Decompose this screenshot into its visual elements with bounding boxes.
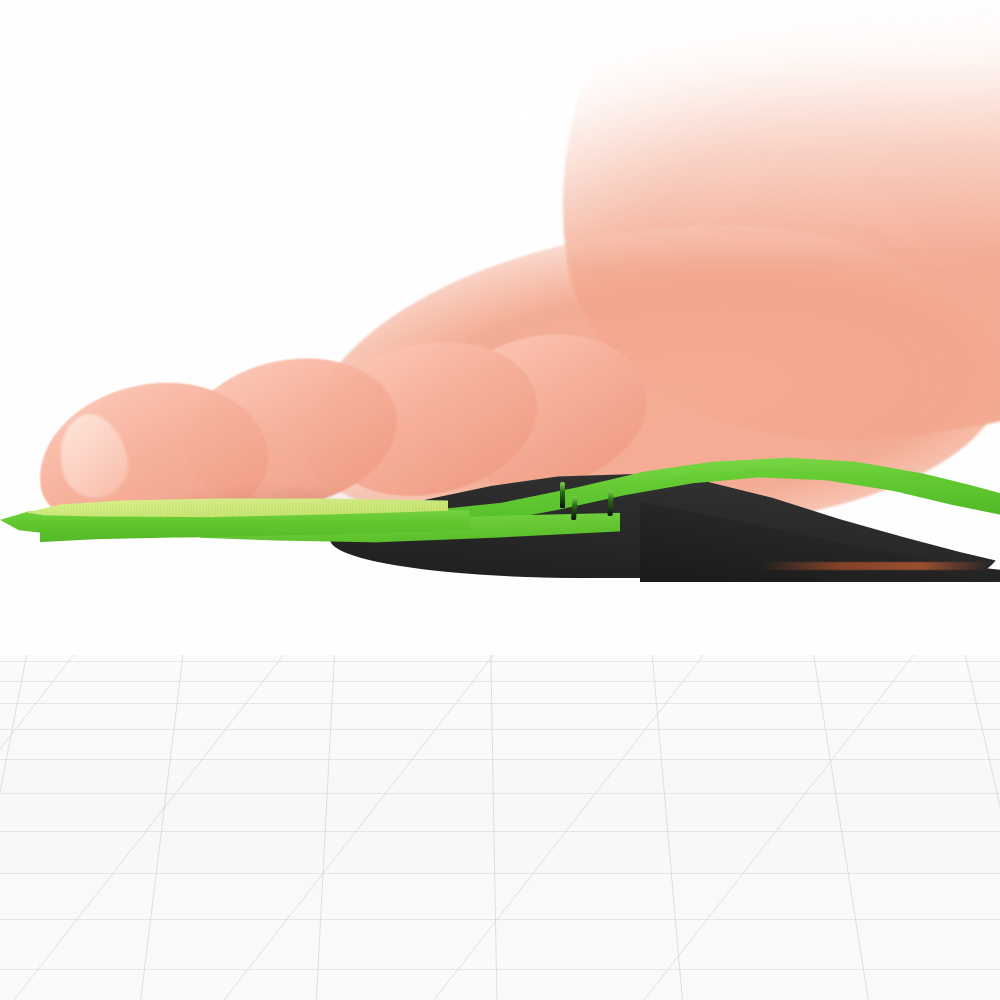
vent-slit-icon [608, 490, 614, 516]
vent-slit-icon [571, 496, 578, 520]
orthopedic-insole-side-view [0, 440, 1000, 590]
perspective-grid-background [0, 655, 1000, 1000]
leg-fade-overlay [505, 0, 1000, 260]
product-poster: ATHLETIC ORTHOPEDIC INSOLES HARD ARCH SU… [0, 0, 1000, 1000]
vent-slit-icon [560, 482, 565, 508]
ventilation-slits-group [560, 482, 740, 528]
insole-bottom-rim [760, 562, 990, 570]
